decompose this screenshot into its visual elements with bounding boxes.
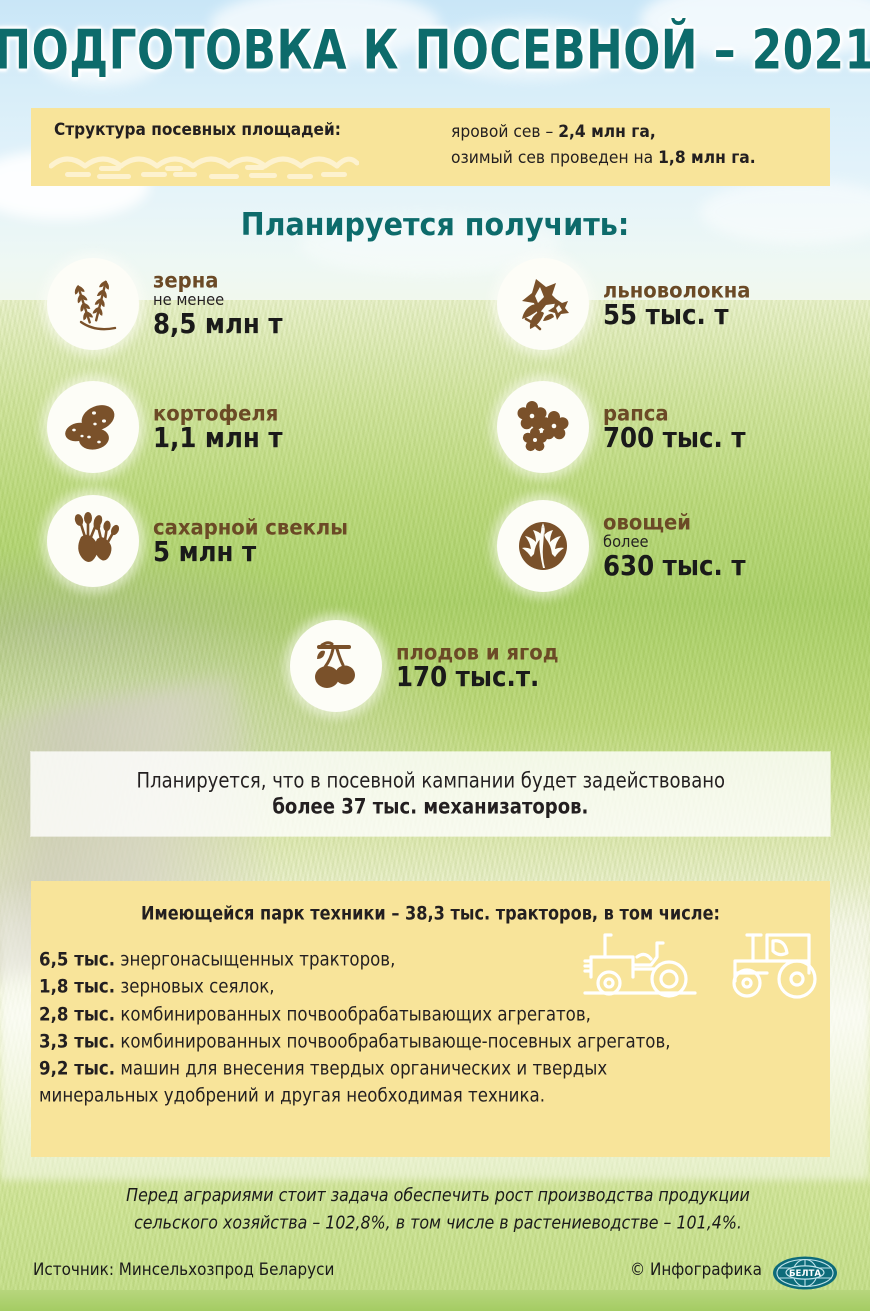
crop-item-flax: льноволокна 55 тыс. т xyxy=(497,258,754,350)
flax-flower-icon xyxy=(497,258,589,350)
sugar-beet-icon xyxy=(47,495,139,587)
crop-item-potato: кортофеля 1,1 млн т xyxy=(47,381,285,473)
crop-value: 5 млн т xyxy=(153,536,348,568)
mechanizers-line-1: Планируется, что в посевной кампании буд… xyxy=(136,769,725,793)
list-item: 2,8 тыс. комбинированных почвообрабатыва… xyxy=(39,1001,790,1030)
crop-text-flax: льноволокна 55 тыс. т xyxy=(603,279,754,330)
crop-text-fruits-berries: плодов и ягод 170 тыс.т. xyxy=(396,641,562,692)
page-title: ПОДГОТОВКА К ПОСЕВНОЙ – 2021 xyxy=(0,18,870,82)
machinery-list: 6,5 тыс. энергонасыщенных тракторов, 1,8… xyxy=(39,946,829,1110)
list-item: 1,8 тыс. зерновых сеялок, xyxy=(39,973,790,1002)
crop-item-rapeseed: рапса 700 тыс. т xyxy=(497,381,749,473)
crop-value: 8,5 млн т xyxy=(153,309,283,341)
belta-logo: БЕЛТА xyxy=(772,1256,838,1290)
belta-logo-text: БЕЛТА xyxy=(789,1269,821,1279)
rapeseed-flower-icon xyxy=(497,381,589,473)
crop-text-sugar-beet: сахарной свеклы 5 млн т xyxy=(153,516,352,567)
source-label: Источник: Минсельхозпрод Беларуси xyxy=(33,1259,334,1280)
infographic-canvas: ПОДГОТОВКА К ПОСЕВНОЙ – 2021 Структура п… xyxy=(0,0,870,1311)
background-bottom-strip xyxy=(0,1290,870,1311)
closing-note: Перед аграриями стоит задача обеспечить … xyxy=(73,1182,803,1236)
crop-name: зерна xyxy=(153,268,283,292)
sown-structure-panel: Структура посевных площадей: xyxy=(31,108,830,186)
potato-icon xyxy=(47,381,139,473)
cabbage-icon xyxy=(497,500,589,592)
list-item: минеральных удобрений и другая необходим… xyxy=(39,1082,790,1111)
crop-value: 1,1 млн т xyxy=(153,422,283,454)
sown-structure-values: яровой сев – 2,4 млн га, озимый сев пров… xyxy=(451,119,820,171)
winter-sowing-line: озимый сев проведен на 1,8 млн га. xyxy=(451,145,820,171)
crop-item-grain: зерна не менее 8,5 млн т xyxy=(47,258,285,350)
mechanizers-line-2: более 37 тыс. механизаторов. xyxy=(272,795,588,819)
furrow-pattern-icon xyxy=(49,148,359,180)
list-item: 9,2 тыс. машин для внесения твердых орга… xyxy=(39,1055,790,1084)
crop-text-potato: кортофеля 1,1 млн т xyxy=(153,402,285,453)
machinery-park-panel: Имеющейся парк техники – 38,3 тыс. тракт… xyxy=(31,881,830,1157)
sown-structure-label: Структура посевных площадей: xyxy=(54,119,341,139)
wheat-icon xyxy=(47,258,139,350)
credit-label: © Инфографика xyxy=(630,1259,762,1280)
plan-heading: Планируется получить: xyxy=(0,206,870,243)
spring-sowing-line: яровой сев – 2,4 млн га, xyxy=(451,119,820,145)
crop-value: 170 тыс.т. xyxy=(396,661,559,693)
crop-name: овощей xyxy=(603,510,746,534)
cherry-icon xyxy=(290,620,382,712)
crop-item-vegetables: овощей более 630 тыс. т xyxy=(497,500,749,592)
closing-note-line-2: сельского хозяйства – 102,8%, в том числ… xyxy=(73,1209,803,1236)
crop-item-sugar-beet: сахарной свеклы 5 млн т xyxy=(47,495,352,587)
crop-text-grain: зерна не менее 8,5 млн т xyxy=(153,269,285,339)
closing-note-line-1: Перед аграриями стоит задача обеспечить … xyxy=(73,1182,803,1209)
mechanizers-panel: Планируется, что в посевной кампании буд… xyxy=(31,752,830,836)
list-item: 3,3 тыс. комбинированных почвообрабатыва… xyxy=(39,1028,790,1057)
list-item: 6,5 тыс. энергонасыщенных тракторов, xyxy=(39,946,790,975)
crop-value: 630 тыс. т xyxy=(603,551,746,583)
crop-text-vegetables: овощей более 630 тыс. т xyxy=(603,511,749,581)
crop-value: 700 тыс. т xyxy=(603,422,746,454)
crop-item-fruits-berries: плодов и ягод 170 тыс.т. xyxy=(290,620,562,712)
crop-text-rapeseed: рапса 700 тыс. т xyxy=(603,402,749,453)
crop-value: 55 тыс. т xyxy=(603,299,751,331)
